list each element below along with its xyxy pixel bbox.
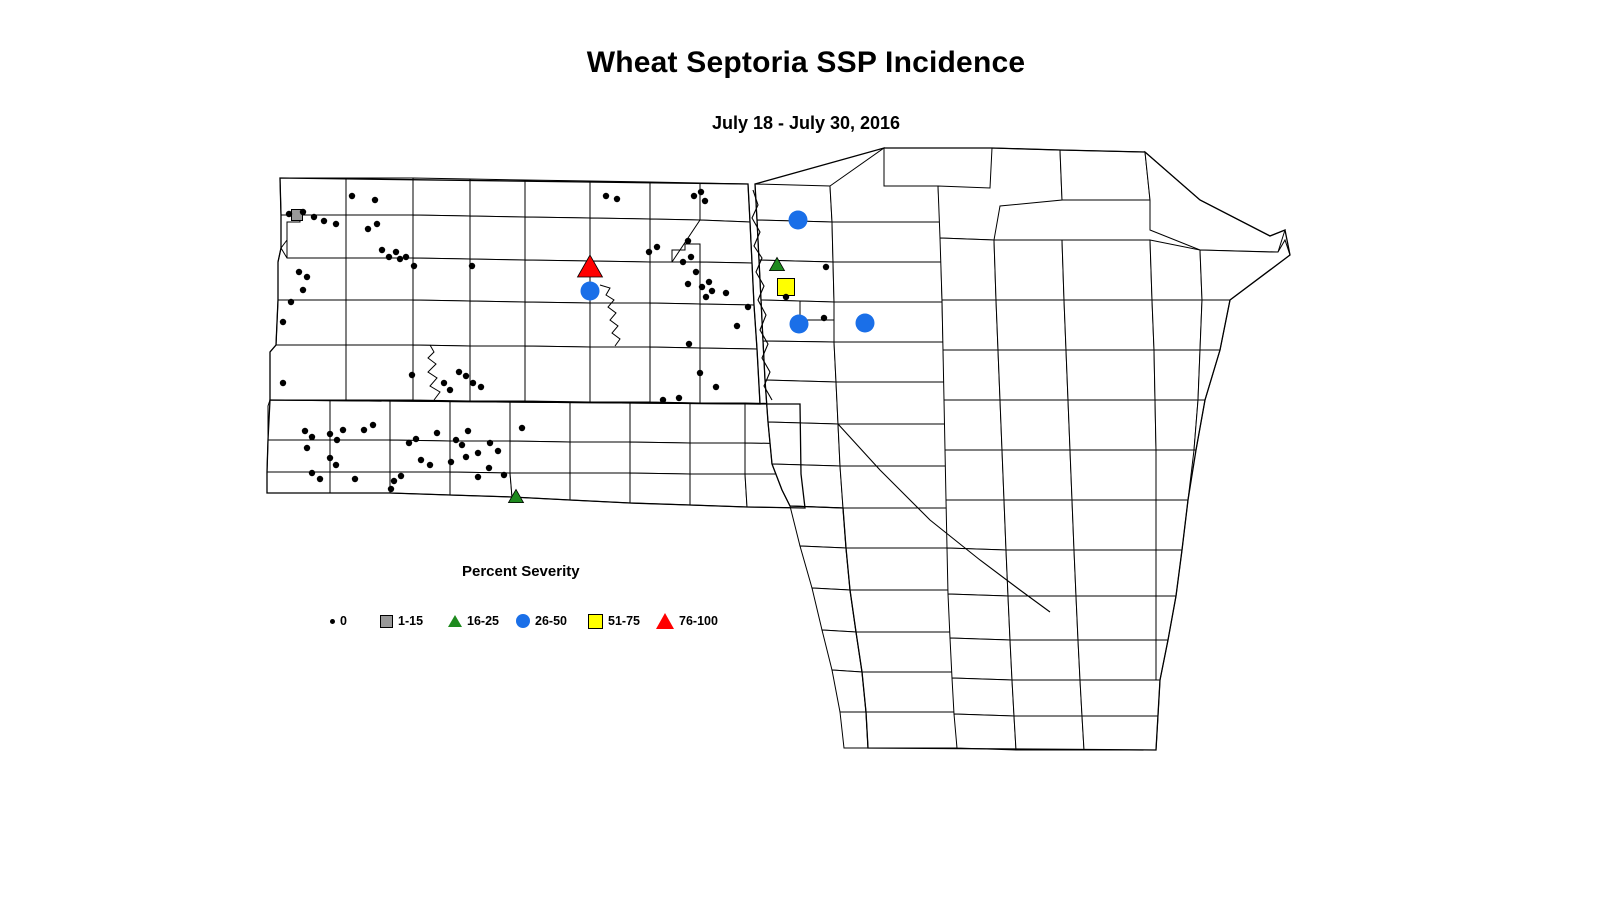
map-marker-0[interactable] [309,470,315,476]
map-marker-0[interactable] [409,372,415,378]
map-marker-0[interactable] [361,427,367,433]
map-marker-0[interactable] [698,189,704,195]
map-marker-0[interactable] [519,425,525,431]
map-marker-0[interactable] [453,437,459,443]
map-marker-0[interactable] [702,198,708,204]
map-marker-0[interactable] [448,459,454,465]
map-marker-0[interactable] [697,370,703,376]
map-svg [0,0,1612,900]
map-marker-0[interactable] [300,287,306,293]
map-marker-0[interactable] [398,473,404,479]
legend-item-51-75[interactable]: 51-75 [588,610,640,632]
map-marker-0[interactable] [397,256,403,262]
map-marker-0[interactable] [680,259,686,265]
map-marker-0[interactable] [334,437,340,443]
map-marker-0[interactable] [660,397,666,403]
map-marker-0[interactable] [304,445,310,451]
map-marker-0[interactable] [413,436,419,442]
map-marker-0[interactable] [783,294,789,300]
county-layer [267,148,1290,750]
map-marker-26-50[interactable] [581,282,600,301]
map-marker-0[interactable] [709,288,715,294]
map-marker-0[interactable] [304,274,310,280]
map-marker-0[interactable] [427,462,433,468]
map-marker-0[interactable] [603,193,609,199]
map-marker-0[interactable] [823,264,829,270]
map-marker-0[interactable] [280,319,286,325]
map-marker-26-50[interactable] [856,314,875,333]
legend-item-label: 76-100 [679,610,718,632]
map-marker-0[interactable] [393,249,399,255]
map-marker-0[interactable] [418,457,424,463]
map-marker-0[interactable] [699,284,705,290]
map-marker-0[interactable] [372,197,378,203]
map-marker-0[interactable] [317,476,323,482]
map-marker-0[interactable] [411,263,417,269]
map-marker-0[interactable] [706,279,712,285]
legend-item-1-15[interactable]: 1-15 [380,610,423,632]
map-marker-0[interactable] [821,315,827,321]
map-marker-0[interactable] [693,269,699,275]
map-marker-0[interactable] [296,269,302,275]
map-marker-0[interactable] [391,478,397,484]
map-marker-0[interactable] [374,221,380,227]
map-marker-0[interactable] [352,476,358,482]
legend-square-icon [380,615,393,628]
map-marker-0[interactable] [614,196,620,202]
map-marker-0[interactable] [388,486,394,492]
map-marker-0[interactable] [475,474,481,480]
map-canvas [0,0,1612,900]
map-marker-0[interactable] [434,430,440,436]
map-marker-0[interactable] [646,249,652,255]
minnesota-counties [755,148,1290,750]
map-marker-0[interactable] [734,323,740,329]
map-marker-0[interactable] [459,442,465,448]
map-marker-26-50[interactable] [789,211,808,230]
map-marker-0[interactable] [333,221,339,227]
map-marker-0[interactable] [340,427,346,433]
map-marker-0[interactable] [686,341,692,347]
map-marker-0[interactable] [685,238,691,244]
map-marker-0[interactable] [302,428,308,434]
legend-item-26-50[interactable]: 26-50 [516,610,567,632]
north-dakota-counties [270,178,760,404]
map-figure: Wheat Septoria SSP Incidence July 18 - J… [0,0,1612,900]
legend-triangle-icon [448,615,462,627]
map-marker-0[interactable] [469,263,475,269]
map-marker-0[interactable] [321,218,327,224]
map-marker-0[interactable] [441,380,447,386]
legend-item-label: 51-75 [608,610,640,632]
map-marker-0[interactable] [300,209,306,215]
map-marker-51-75[interactable] [778,279,795,296]
legend-item-label: 1-15 [398,610,423,632]
map-marker-0[interactable] [463,454,469,460]
map-marker-0[interactable] [379,247,385,253]
map-marker-0[interactable] [447,387,453,393]
map-marker-0[interactable] [676,395,682,401]
map-marker-0[interactable] [406,440,412,446]
legend-item-76-100[interactable]: 76-100 [656,610,718,632]
map-marker-0[interactable] [501,472,507,478]
map-marker-0[interactable] [311,214,317,220]
legend: 01-1516-2526-5051-7576-100 [330,610,750,632]
legend-circle-icon [516,614,530,628]
map-marker-0[interactable] [333,462,339,468]
map-marker-0[interactable] [365,226,371,232]
map-marker-0[interactable] [745,304,751,310]
map-marker-0[interactable] [470,380,476,386]
map-marker-0[interactable] [487,440,493,446]
legend-item-label: 16-25 [467,610,499,632]
map-marker-0[interactable] [654,244,660,250]
map-marker-0[interactable] [370,422,376,428]
map-marker-0[interactable] [688,254,694,260]
map-marker-0[interactable] [286,211,292,217]
map-marker-0[interactable] [691,193,697,199]
map-marker-0[interactable] [685,281,691,287]
legend-item-0[interactable]: 0 [330,610,347,632]
map-marker-0[interactable] [327,431,333,437]
map-marker-0[interactable] [495,448,501,454]
map-marker-26-50[interactable] [790,315,809,334]
legend-item-16-25[interactable]: 16-25 [448,610,499,632]
map-marker-0[interactable] [475,450,481,456]
map-marker-0[interactable] [309,434,315,440]
map-marker-0[interactable] [288,299,294,305]
legend-item-label: 0 [340,610,347,632]
legend-dot-icon [330,619,335,624]
legend-square-icon [588,614,603,629]
map-marker-0[interactable] [465,428,471,434]
legend-heading: Percent Severity [462,563,580,580]
map-marker-0[interactable] [478,384,484,390]
map-marker-0[interactable] [327,455,333,461]
map-marker-0[interactable] [349,193,355,199]
map-marker-0[interactable] [403,254,409,260]
map-marker-0[interactable] [386,254,392,260]
legend-item-label: 26-50 [535,610,567,632]
map-marker-0[interactable] [713,384,719,390]
map-marker-0[interactable] [463,373,469,379]
legend-triangle-icon [656,613,674,629]
map-marker-0[interactable] [486,465,492,471]
map-marker-0[interactable] [723,290,729,296]
map-marker-0[interactable] [280,380,286,386]
map-marker-0[interactable] [703,294,709,300]
map-marker-0[interactable] [456,369,462,375]
